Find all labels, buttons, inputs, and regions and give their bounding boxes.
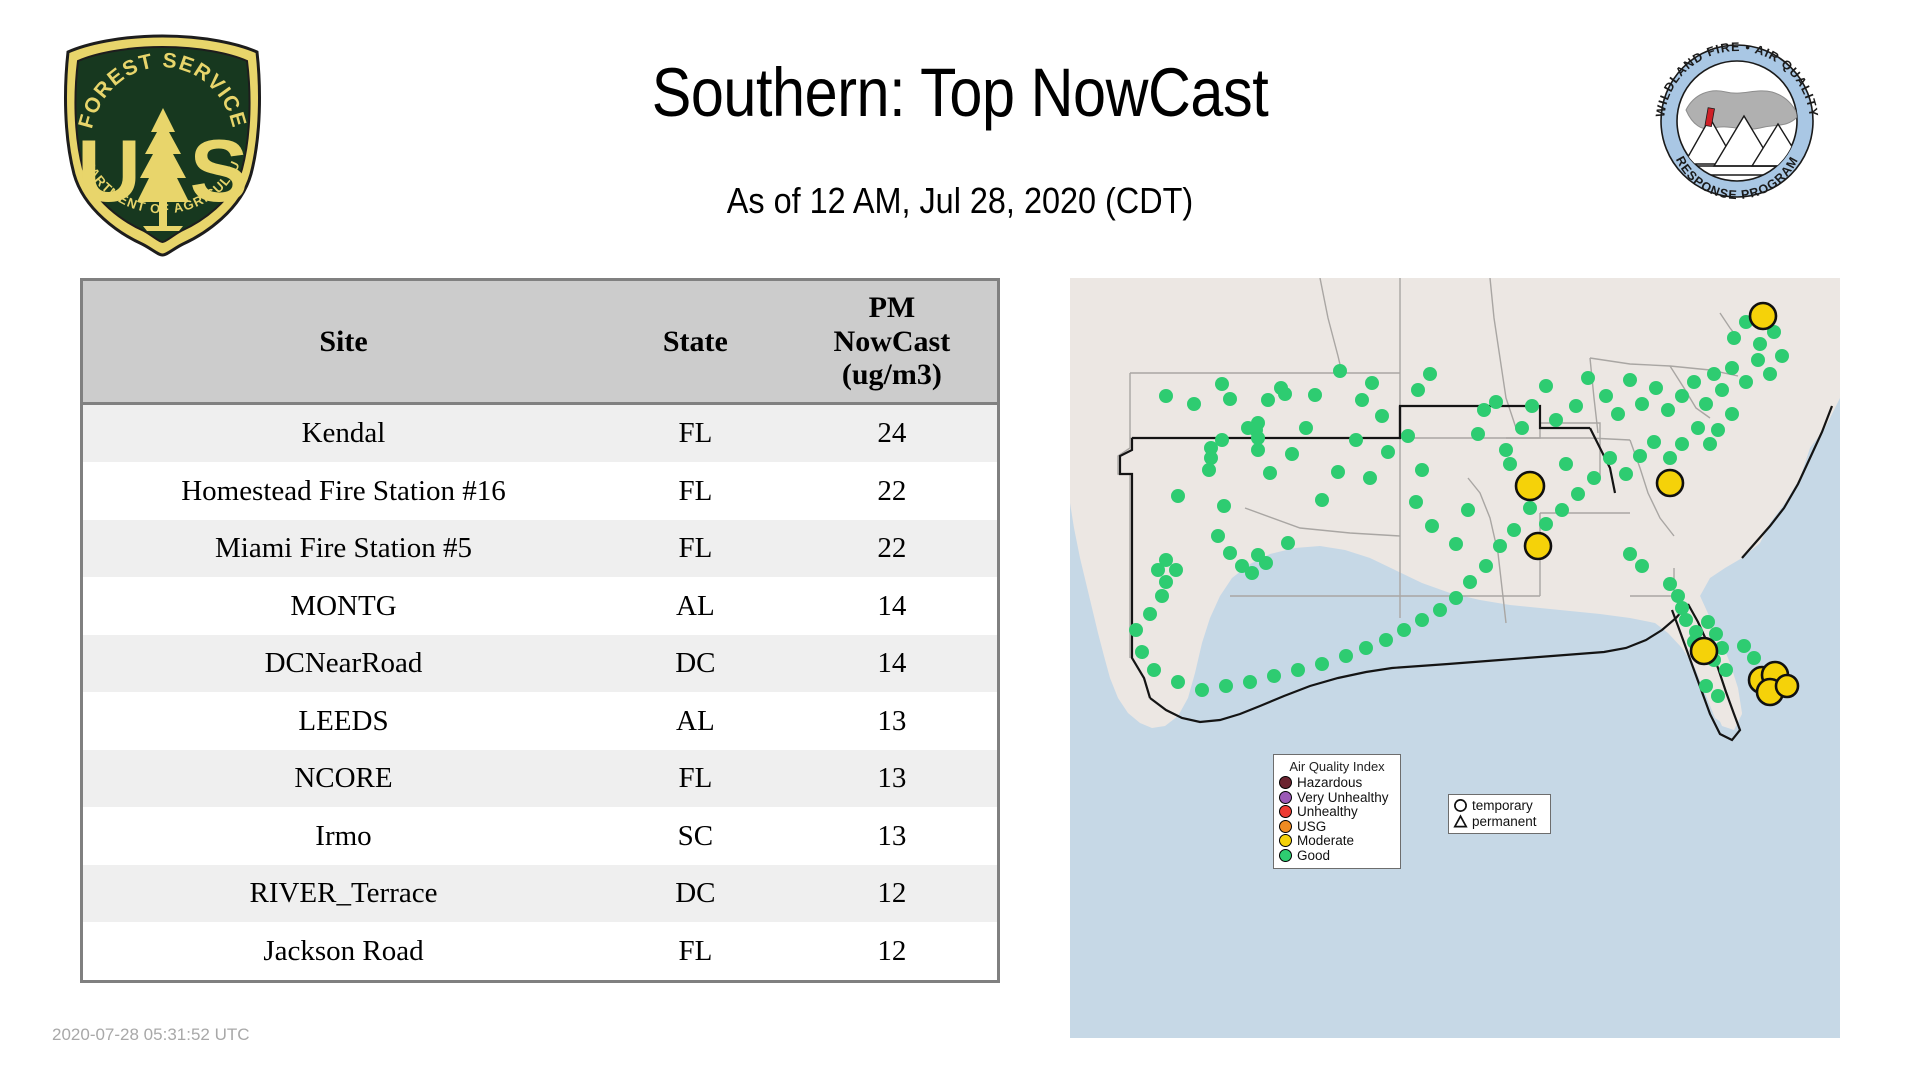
marker-moderate-ncore (1691, 638, 1717, 664)
map-canvas (1070, 278, 1840, 1038)
aqi-legend-item-moderate: Moderate (1279, 834, 1395, 848)
aqi-legend-item-usg: USG (1279, 820, 1395, 834)
aqi-legend: Air Quality Index Hazardous Very Unhealt… (1273, 754, 1401, 869)
table-row: MONTG AL 14 (83, 577, 997, 635)
table-row: RIVER_Terrace DC 12 (83, 865, 997, 923)
aqi-dot-good (1279, 849, 1292, 862)
cell-pm: 22 (787, 520, 997, 578)
cell-state: AL (604, 692, 787, 750)
page-subtitle: As of 12 AM, Jul 28, 2020 (CDT) (366, 180, 1554, 222)
cell-state: AL (604, 577, 787, 635)
aqi-label-moderate: Moderate (1297, 834, 1354, 848)
pm-header-line3: (ug/m3) (842, 358, 942, 391)
cell-site: Jackson Road (83, 922, 604, 980)
air-quality-map[interactable]: Air Quality Index Hazardous Very Unhealt… (1070, 278, 1840, 1038)
table-row: Kendal FL 24 (83, 403, 997, 462)
aqi-label-hazardous: Hazardous (1297, 776, 1362, 790)
table-row: Jackson Road FL 12 (83, 922, 997, 980)
cell-state: FL (604, 922, 787, 980)
cell-state: FL (604, 403, 787, 462)
cell-pm: 13 (787, 750, 997, 808)
table-header-row: Site State PM NowCast (ug/m3) (83, 281, 997, 403)
cell-pm: 13 (787, 807, 997, 865)
aqi-dot-unhealthy (1279, 805, 1292, 818)
pm-header-line2: NowCast (834, 325, 951, 358)
table-row: Miami Fire Station #5 FL 22 (83, 520, 997, 578)
cell-state: DC (604, 635, 787, 693)
aqi-legend-item-very-unhealthy: Very Unhealthy (1279, 791, 1395, 805)
cell-pm: 22 (787, 462, 997, 520)
aqi-label-good: Good (1297, 849, 1330, 863)
cell-site: Kendal (83, 403, 604, 462)
cell-pm: 12 (787, 922, 997, 980)
cell-site: LEEDS (83, 692, 604, 750)
legend-label-permanent: permanent (1472, 815, 1537, 829)
column-header-site: Site (83, 281, 604, 403)
marker-moderate-montg (1525, 533, 1551, 559)
marker-moderate-kendal (1776, 675, 1798, 697)
usfs-shield-logo: FOREST SERVICE DEPARTMENT OF AGRICULTURE… (55, 28, 270, 258)
page-title: Southern: Top NowCast (392, 58, 1527, 127)
marker-moderate-irmo (1657, 470, 1683, 496)
aqi-label-unhealthy: Unhealthy (1297, 805, 1358, 819)
table-row: NCORE FL 13 (83, 750, 997, 808)
svg-text:S: S (190, 121, 249, 220)
table-body: Kendal FL 24 Homestead Fire Station #16 … (83, 403, 997, 980)
circle-icon (1453, 798, 1468, 813)
wildland-fire-air-quality-response-program-logo: WILDLAND FIRE • AIR QUALITY RESPONSE PRO… (1648, 32, 1826, 210)
footer-timestamp: 2020-07-28 05:31:52 UTC (52, 1025, 250, 1045)
cell-pm: 12 (787, 865, 997, 923)
table-row: DCNearRoad DC 14 (83, 635, 997, 693)
cell-site: DCNearRoad (83, 635, 604, 693)
aqi-legend-item-good: Good (1279, 849, 1395, 863)
cell-site: Irmo (83, 807, 604, 865)
cell-site: MONTG (83, 577, 604, 635)
pm-header-line1: PM (869, 291, 916, 324)
column-header-state: State (604, 281, 787, 403)
table-row: LEEDS AL 13 (83, 692, 997, 750)
cell-pm: 13 (787, 692, 997, 750)
aqi-label-very-unhealthy: Very Unhealthy (1297, 791, 1389, 805)
cell-pm: 14 (787, 577, 997, 635)
aqi-dot-moderate (1279, 834, 1292, 847)
cell-pm: 14 (787, 635, 997, 693)
legend-item-permanent: permanent (1453, 814, 1546, 829)
aqi-legend-item-hazardous: Hazardous (1279, 776, 1395, 790)
cell-state: FL (604, 750, 787, 808)
table-row: Homestead Fire Station #16 FL 22 (83, 462, 997, 520)
cell-site: RIVER_Terrace (83, 865, 604, 923)
cell-state: DC (604, 865, 787, 923)
legend-label-temporary: temporary (1472, 799, 1533, 813)
aqi-dot-very-unhealthy (1279, 791, 1292, 804)
nowcast-table: Site State PM NowCast (ug/m3) Kendal FL … (83, 281, 997, 980)
cell-site: Miami Fire Station #5 (83, 520, 604, 578)
cell-state: SC (604, 807, 787, 865)
cell-site: NCORE (83, 750, 604, 808)
aqi-legend-title: Air Quality Index (1279, 759, 1395, 774)
column-header-pm-nowcast: PM NowCast (ug/m3) (787, 281, 997, 403)
cell-state: FL (604, 520, 787, 578)
table-row: Irmo SC 13 (83, 807, 997, 865)
nowcast-table-container: Site State PM NowCast (ug/m3) Kendal FL … (80, 278, 1000, 983)
marker-moderate-leeds (1516, 472, 1544, 500)
monitor-type-legend: temporary permanent (1448, 794, 1551, 834)
marker-moderate-dc (1750, 303, 1776, 329)
triangle-icon (1453, 814, 1468, 829)
aqi-label-usg: USG (1297, 820, 1326, 834)
table-header: Site State PM NowCast (ug/m3) (83, 281, 997, 403)
legend-item-temporary: temporary (1453, 798, 1546, 813)
aqi-dot-hazardous (1279, 776, 1292, 789)
aqi-dot-usg (1279, 820, 1292, 833)
cell-site: Homestead Fire Station #16 (83, 462, 604, 520)
svg-text:U: U (77, 121, 141, 220)
aqi-legend-item-unhealthy: Unhealthy (1279, 805, 1395, 819)
cell-state: FL (604, 462, 787, 520)
cell-pm: 24 (787, 403, 997, 462)
